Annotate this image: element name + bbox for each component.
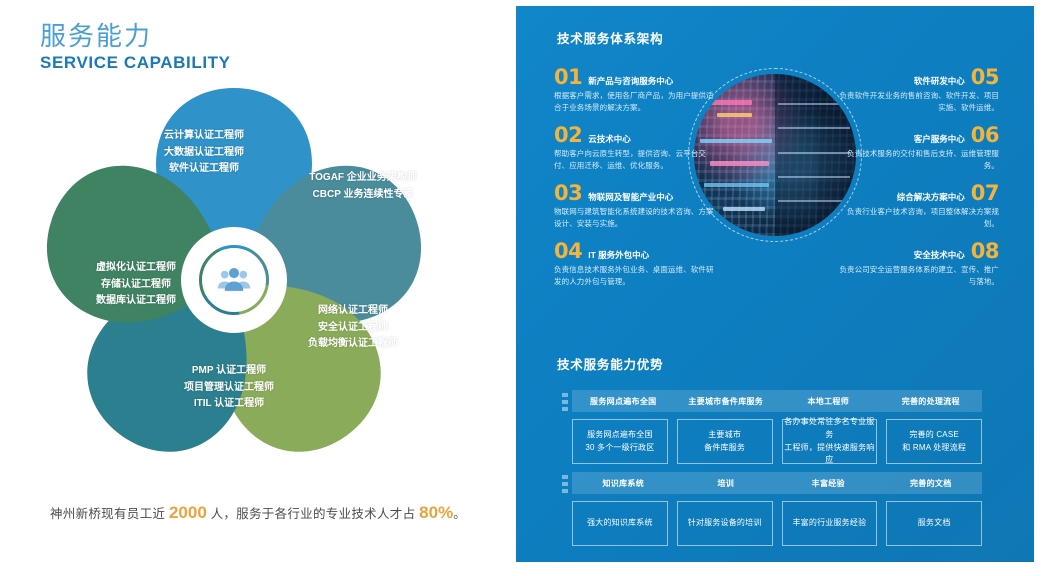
center-description: 根据客户需求，使用各厂商产品，为用户提供适合于业务场景的解决方案。 — [554, 90, 719, 114]
petal-line: 网络认证工程师 — [260, 303, 446, 320]
caption-part2: 人，服务于各行业的专业技术人才占 — [207, 507, 419, 521]
cell-line: 备件库服务 — [704, 442, 745, 455]
cell-line: 针对服务设备的培训 — [688, 517, 762, 530]
center-name: 云技术中心 — [588, 135, 631, 145]
center-number: 06 — [971, 126, 999, 145]
table-header-row: 知识库系统 培训 丰富经验 完善的文档 — [572, 472, 982, 494]
row-tick — [562, 475, 568, 479]
center-number: 08 — [971, 242, 999, 261]
center-number: 04 — [554, 242, 582, 261]
center-description: 负责公司安全运营服务体系的建立、宣传、推广与落地。 — [834, 264, 999, 288]
column-header: 完善的处理流程 — [880, 390, 983, 412]
table-header-row: 服务网点遍布全国 主要城市备件库服务 本地工程师 完善的处理流程 — [572, 390, 982, 412]
cell-line: 主要城市 — [708, 429, 741, 442]
center-description: 负责技术服务的交付和售后支持、运维管理服务。 — [834, 148, 999, 172]
row-tick — [562, 400, 568, 404]
people-group-icon — [217, 267, 251, 293]
center-name: 新产品与咨询服务中心 — [588, 77, 673, 87]
petal-line: 软件认证工程师 — [114, 161, 294, 178]
service-centers-left: 01 新产品与咨询服务中心 根据客户需求，使用各厂商产品，为用户提供适合于业务场… — [554, 68, 719, 300]
left-panel: 服务能力 SERVICE CAPABILITY — [0, 0, 516, 576]
table-cell[interactable]: 主要城市 备件库服务 — [677, 419, 773, 464]
center-description: 物联网与建筑智能化系统建设的技术咨询、方案设计、安装与实施。 — [554, 206, 719, 230]
column-header: 培训 — [675, 472, 778, 494]
table-cell[interactable]: 完善的 CASE 和 RMA 处理流程 — [886, 419, 982, 464]
petal-label-virtualization: 虚拟化认证工程师 存储认证工程师 数据库认证工程师 — [46, 260, 226, 310]
table-cell[interactable]: 强大的知识库系统 — [572, 501, 668, 546]
service-center-item[interactable]: 软件研发中心 05 负责软件开发业务的售前咨询、软件开发、项目实施、软件运维。 — [834, 68, 999, 114]
petal-line: 存储认证工程师 — [46, 277, 226, 294]
petal-line: PMP 认证工程师 — [134, 363, 324, 380]
service-center-item[interactable]: 综合解决方案中心 07 负责行业客户技术咨询，项目整体解决方案规划。 — [834, 184, 999, 230]
slide-root: 服务能力 SERVICE CAPABILITY — [0, 0, 1041, 576]
advantages-table-2: 知识库系统 培训 丰富经验 完善的文档 强大的知识库系统 针对服务设备的培训 丰… — [572, 472, 982, 546]
petal-line: 安全认证工程师 — [260, 320, 446, 337]
service-center-item[interactable]: 01 新产品与咨询服务中心 根据客户需求，使用各厂商产品，为用户提供适合于业务场… — [554, 68, 719, 114]
cell-line: 30 多个一级行政区 — [585, 442, 654, 455]
center-number: 03 — [554, 184, 582, 203]
center-name: IT 服务外包中心 — [588, 251, 649, 261]
table-cell[interactable]: 丰富的行业服务经验 — [782, 501, 878, 546]
page-title-cn: 服务能力 — [40, 22, 231, 52]
petal-line: 虚拟化认证工程师 — [46, 260, 226, 277]
page-title-en: SERVICE CAPABILITY — [40, 54, 231, 73]
service-center-item[interactable]: 客户服务中心 06 负责技术服务的交付和售后支持、运维管理服务。 — [834, 126, 999, 172]
flower-diagram: 云计算认证工程师 大数据认证工程师 软件认证工程师 TOGAF 企业业务架构师 … — [28, 88, 488, 488]
petal-line: 大数据认证工程师 — [114, 145, 294, 162]
row-tick — [562, 407, 568, 411]
petal-label-cloud: 云计算认证工程师 大数据认证工程师 软件认证工程师 — [114, 128, 294, 178]
service-center-item[interactable]: 03 物联网及智能产业中心 物联网与建筑智能化系统建设的技术咨询、方案设计、安装… — [554, 184, 719, 230]
caption-employee-count: 2000 — [169, 503, 207, 522]
column-header: 本地工程师 — [777, 390, 880, 412]
cell-line: 服务网点遍布全国 — [587, 429, 653, 442]
flower-center-hub — [202, 248, 266, 312]
cell-line: 服务文档 — [918, 517, 951, 530]
center-name: 物联网及智能产业中心 — [588, 193, 673, 203]
petal-line: 云计算认证工程师 — [114, 128, 294, 145]
service-centers-right: 软件研发中心 05 负责软件开发业务的售前咨询、软件开发、项目实施、软件运维。 … — [834, 68, 999, 300]
center-number: 05 — [971, 68, 999, 87]
column-header: 丰富经验 — [777, 472, 880, 494]
petal-line: CBCP 业务连续性专家 — [268, 187, 458, 204]
center-description: 负责行业客户技术咨询，项目整体解决方案规划。 — [834, 206, 999, 230]
center-number: 07 — [971, 184, 999, 203]
center-description: 帮助客户向云原生转型，提供咨询、云平台交付、应用迁移、运维、优化服务。 — [554, 148, 719, 172]
right-panel: 技术服务体系架构 01 新产品与咨询服务中心 根 — [516, 6, 1034, 562]
service-center-item[interactable]: 安全技术中心 08 负责公司安全运营服务体系的建立、宣传、推广与落地。 — [834, 242, 999, 288]
cell-line: 和 RMA 处理流程 — [902, 442, 966, 455]
caption-part1: 神州新桥现有员工近 — [50, 507, 169, 521]
table-body-row: 服务网点遍布全国 30 多个一级行政区 主要城市 备件库服务 各办事处常驻多名专… — [572, 419, 982, 464]
center-name: 综合解决方案中心 — [897, 193, 965, 203]
caption-part3: 。 — [453, 507, 466, 521]
petal-line: TOGAF 企业业务架构师 — [268, 170, 458, 187]
petal-line: ITIL 认证工程师 — [134, 396, 324, 413]
column-header: 主要城市备件库服务 — [675, 390, 778, 412]
center-number: 01 — [554, 68, 582, 87]
architecture-section-title: 技术服务体系架构 — [557, 28, 663, 47]
petal-line: 负载均衡认证工程师 — [260, 336, 446, 353]
cell-line: 丰富的行业服务经验 — [792, 517, 866, 530]
cell-line: 工程师，提供快速服务响应 — [783, 442, 877, 468]
center-name: 安全技术中心 — [914, 251, 965, 261]
service-center-item[interactable]: 02 云技术中心 帮助客户向云原生转型，提供咨询、云平台交付、应用迁移、运维、优… — [554, 126, 719, 172]
cell-line: 强大的知识库系统 — [587, 517, 653, 530]
employee-caption: 神州新桥现有员工近 2000 人，服务于各行业的专业技术人才占 80%。 — [0, 503, 516, 523]
table-cell[interactable]: 服务网点遍布全国 30 多个一级行政区 — [572, 419, 668, 464]
title-block: 服务能力 SERVICE CAPABILITY — [40, 22, 231, 73]
advantages-table-1: 服务网点遍布全国 主要城市备件库服务 本地工程师 完善的处理流程 服务网点遍布全… — [572, 390, 982, 464]
center-name: 软件研发中心 — [914, 77, 965, 87]
column-header: 完善的文档 — [880, 472, 983, 494]
center-number: 02 — [554, 126, 582, 145]
petal-line: 项目管理认证工程师 — [134, 380, 324, 397]
row-tick — [562, 489, 568, 493]
center-description: 负责软件开发业务的售前咨询、软件开发、项目实施、软件运维。 — [834, 90, 999, 114]
table-cell[interactable]: 各办事处常驻多名专业服务 工程师，提供快速服务响应 — [782, 419, 878, 464]
column-header: 知识库系统 — [572, 472, 675, 494]
petal-line: 数据库认证工程师 — [46, 293, 226, 310]
table-cell[interactable]: 针对服务设备的培训 — [677, 501, 773, 546]
petal-label-project-management: PMP 认证工程师 项目管理认证工程师 ITIL 认证工程师 — [134, 363, 324, 413]
cell-line: 各办事处常驻多名专业服务 — [783, 416, 877, 442]
petal-label-architecture: TOGAF 企业业务架构师 CBCP 业务连续性专家 — [268, 170, 458, 203]
caption-percentage: 80% — [419, 503, 453, 522]
center-name: 客户服务中心 — [914, 135, 965, 145]
center-description: 负责信息技术服务外包业务、桌面运维、软件研发的人力外包与管理。 — [554, 264, 719, 288]
advantages-section-title: 技术服务能力优势 — [557, 354, 663, 373]
table-cell[interactable]: 服务文档 — [886, 501, 982, 546]
table-body-row: 强大的知识库系统 针对服务设备的培训 丰富的行业服务经验 服务文档 — [572, 501, 982, 546]
column-header: 服务网点遍布全国 — [572, 390, 675, 412]
row-tick — [562, 393, 568, 397]
service-center-item[interactable]: 04 IT 服务外包中心 负责信息技术服务外包业务、桌面运维、软件研发的人力外包… — [554, 242, 719, 288]
row-tick — [562, 482, 568, 486]
cell-line: 完善的 CASE — [909, 429, 959, 442]
petal-label-network: 网络认证工程师 安全认证工程师 负载均衡认证工程师 — [260, 303, 446, 353]
